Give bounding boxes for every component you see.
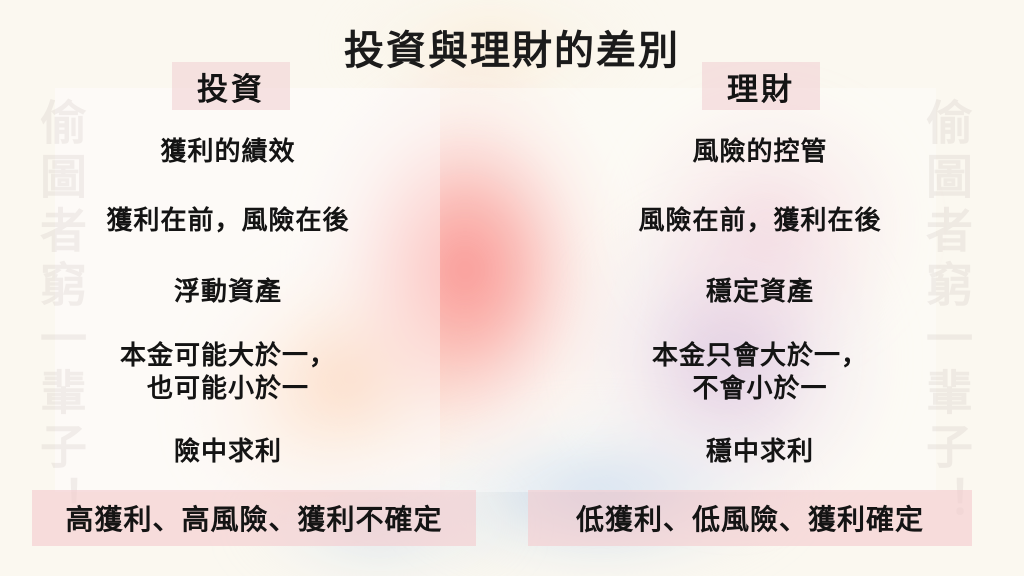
list-item: 浮動資產 xyxy=(8,256,448,328)
row-line: 本金只會大於一， xyxy=(652,339,868,372)
row-line: 風險在前，獲利在後 xyxy=(638,204,881,237)
page-title: 投資與理財的差別 xyxy=(0,18,1024,76)
list-item: 獲利在前，風險在後 xyxy=(8,186,448,256)
row-line: 也可能小於一 xyxy=(120,372,336,405)
list-item: 風險的控管 xyxy=(540,118,980,186)
list-item: 本金只會大於一， 不會小於一 xyxy=(540,328,980,416)
row-line: 不會小於一 xyxy=(652,372,868,405)
column-financial-management: 風險的控管 風險在前，獲利在後 穩定資產 本金只會大於一， 不會小於一 穩中求利 xyxy=(540,118,980,488)
row-line: 風險的控管 xyxy=(692,135,827,168)
row-line: 本金可能大於一， xyxy=(120,339,336,372)
row-line: 險中求利 xyxy=(174,435,282,468)
list-item: 風險在前，獲利在後 xyxy=(540,186,980,256)
row-line: 獲利在前，風險在後 xyxy=(106,204,349,237)
list-item: 本金可能大於一， 也可能小於一 xyxy=(8,328,448,416)
column-header-investment: 投資 xyxy=(172,62,290,110)
column-header-financial-management: 理財 xyxy=(702,62,820,110)
row-line: 穩中求利 xyxy=(706,435,814,468)
list-item: 穩定資產 xyxy=(540,256,980,328)
column-investment: 獲利的績效 獲利在前，風險在後 浮動資產 本金可能大於一， 也可能小於一 險中求… xyxy=(8,118,448,488)
list-item: 險中求利 xyxy=(8,416,448,488)
row-line: 獲利的績效 xyxy=(160,135,295,168)
row-line: 穩定資產 xyxy=(706,275,814,308)
summary-banner-investment: 高獲利、高風險、獲利不確定 xyxy=(32,490,476,546)
summary-banner-financial-management: 低獲利、低風險、獲利確定 xyxy=(528,490,972,546)
slide-canvas: 偷圖者窮一輩子！ 偷圖者窮一輩子！ 投資與理財的差別 投資 理財 獲利的績效 獲… xyxy=(0,0,1024,576)
row-line: 浮動資產 xyxy=(174,275,282,308)
list-item: 獲利的績效 xyxy=(8,118,448,186)
list-item: 穩中求利 xyxy=(540,416,980,488)
